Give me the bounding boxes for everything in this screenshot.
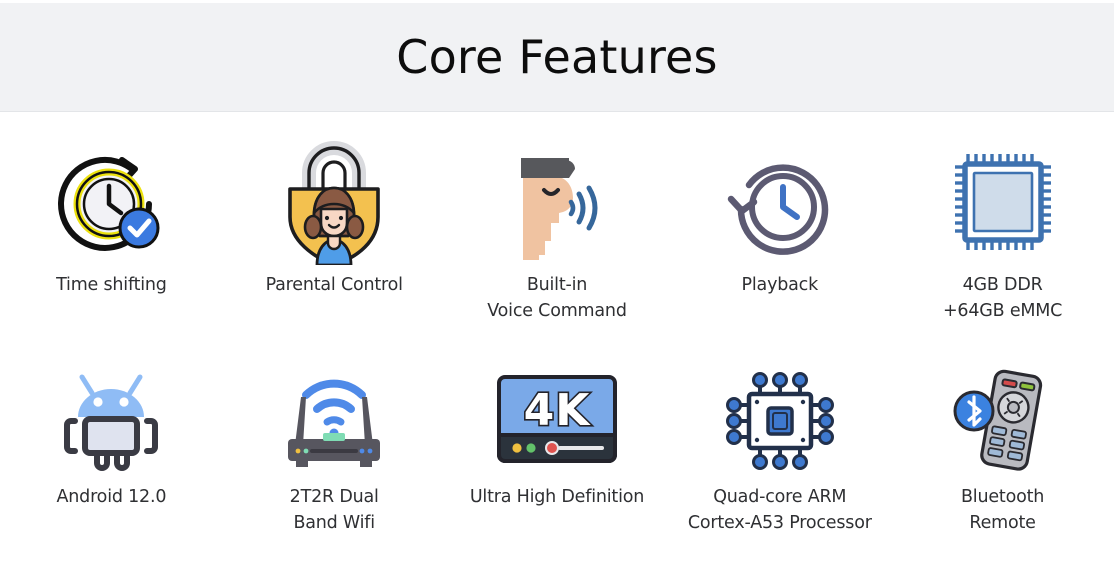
feature-item-parental-control[interactable]: Parental Control <box>223 132 446 356</box>
feature-item-voice-command[interactable]: Built-in Voice Command <box>446 132 669 356</box>
voice-command-face-icon <box>501 138 613 266</box>
feature-item-uhd[interactable]: 4K Ultra High Definition <box>446 356 669 580</box>
4k-screen-icon: 4K <box>495 362 619 480</box>
feature-label: 4GB DDR +64GB eMMC <box>943 272 1062 324</box>
feature-item-bluetooth-remote[interactable]: Bluetooth Remote <box>891 356 1114 580</box>
header-band: Core Features <box>0 3 1114 112</box>
feature-label: Parental Control <box>266 272 403 298</box>
svg-text:4K: 4K <box>524 385 592 436</box>
feature-item-memory[interactable]: 4GB DDR +64GB eMMC <box>891 132 1114 356</box>
feature-item-time-shifting[interactable]: Time shifting <box>0 132 223 356</box>
core-features-page: Core Features <box>0 0 1114 581</box>
feature-grid: Time shifting <box>0 132 1114 581</box>
feature-label: Bluetooth Remote <box>961 484 1044 536</box>
feature-item-android[interactable]: Android 12.0 <box>0 356 223 580</box>
feature-row: Time shifting <box>0 132 1114 356</box>
memory-chip-icon <box>949 138 1057 266</box>
feature-label: Built-in Voice Command <box>487 272 626 324</box>
feature-row: Android 12.0 <box>0 356 1114 580</box>
page-title: Core Features <box>396 34 717 80</box>
feature-item-cpu[interactable]: Quad-core ARM Cortex-A53 Processor <box>668 356 891 580</box>
feature-label: 2T2R Dual Band Wifi <box>290 484 379 536</box>
cpu-processor-icon <box>724 362 836 480</box>
feature-item-playback[interactable]: Playback <box>668 132 891 356</box>
wifi-router-icon <box>276 362 392 480</box>
time-shifting-icon <box>47 138 175 266</box>
feature-label: Android 12.0 <box>57 484 167 510</box>
playback-clock-icon <box>721 138 839 266</box>
bluetooth-remote-icon <box>948 362 1058 480</box>
feature-label: Time shifting <box>56 272 167 298</box>
feature-item-router[interactable]: 2T2R Dual Band Wifi <box>223 356 446 580</box>
parental-control-shield-icon <box>273 138 395 266</box>
feature-label: Ultra High Definition <box>470 484 644 510</box>
feature-label: Playback <box>742 272 818 298</box>
android-robot-icon <box>56 362 166 480</box>
feature-label: Quad-core ARM Cortex-A53 Processor <box>688 484 872 536</box>
